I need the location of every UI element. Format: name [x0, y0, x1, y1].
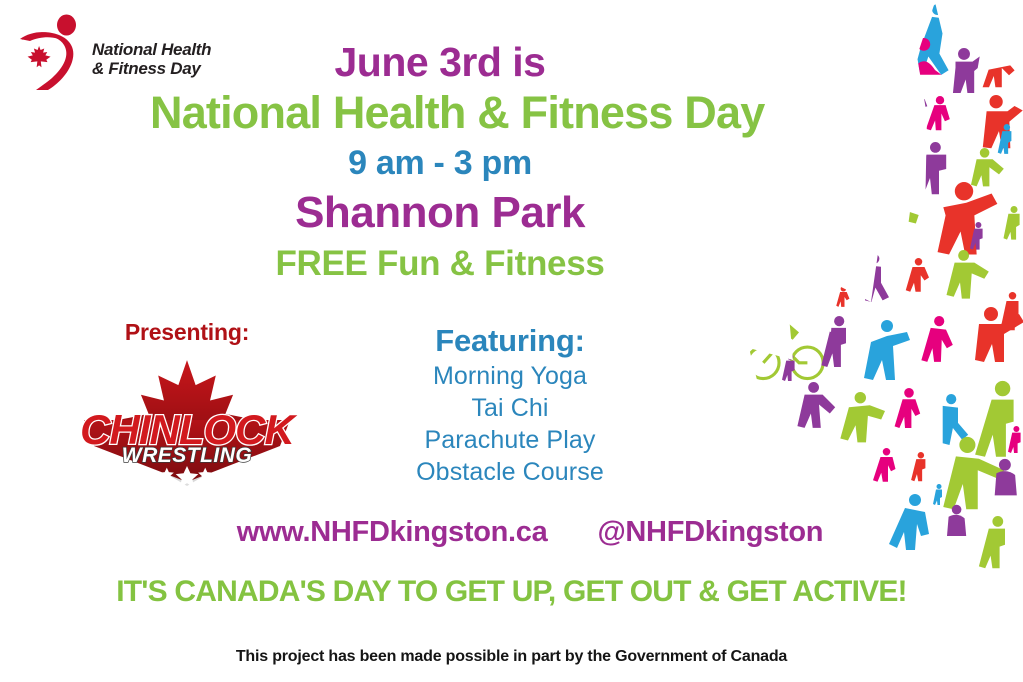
contact-line: www.NHFDkingston.ca@NHFDkingston [150, 516, 910, 549]
chinlock-wrestling-logo: CHINLOCK WRESTLING [74, 354, 300, 494]
footer-note: This project has been made possible in p… [0, 648, 1023, 666]
featuring-item-0: Morning Yoga [330, 360, 690, 392]
featuring-title: Featuring: [330, 322, 690, 360]
presenting-sponsor-block: Presenting: [62, 318, 312, 494]
poster-canvas: National Health & Fitness Day [0, 0, 1023, 682]
featuring-block: Featuring: Morning Yoga Tai Chi Parachut… [330, 322, 690, 488]
social-handle[interactable]: @NHFDkingston [597, 516, 823, 548]
event-time: 9 am - 3 pm [150, 140, 730, 186]
event-venue: Shannon Park [150, 186, 730, 240]
event-name: National Health & Fitness Day [150, 86, 730, 140]
event-date-line: June 3rd is [150, 38, 730, 86]
tagline: IT'S CANADA'S DAY TO GET UP, GET OUT & G… [0, 575, 1023, 609]
running-figure-with-maple-leaf-icon [14, 14, 86, 94]
featuring-item-2: Parachute Play [330, 424, 690, 456]
website-link[interactable]: www.NHFDkingston.ca [237, 516, 548, 548]
headline-block: June 3rd is National Health & Fitness Da… [150, 38, 730, 288]
featuring-item-3: Obstacle Course [330, 456, 690, 488]
featuring-item-1: Tai Chi [330, 392, 690, 424]
presenting-label: Presenting: [62, 318, 312, 346]
chinlock-wrestling-subtitle: WRESTLING [122, 444, 253, 467]
event-free-line: FREE Fun & Fitness [150, 240, 730, 288]
